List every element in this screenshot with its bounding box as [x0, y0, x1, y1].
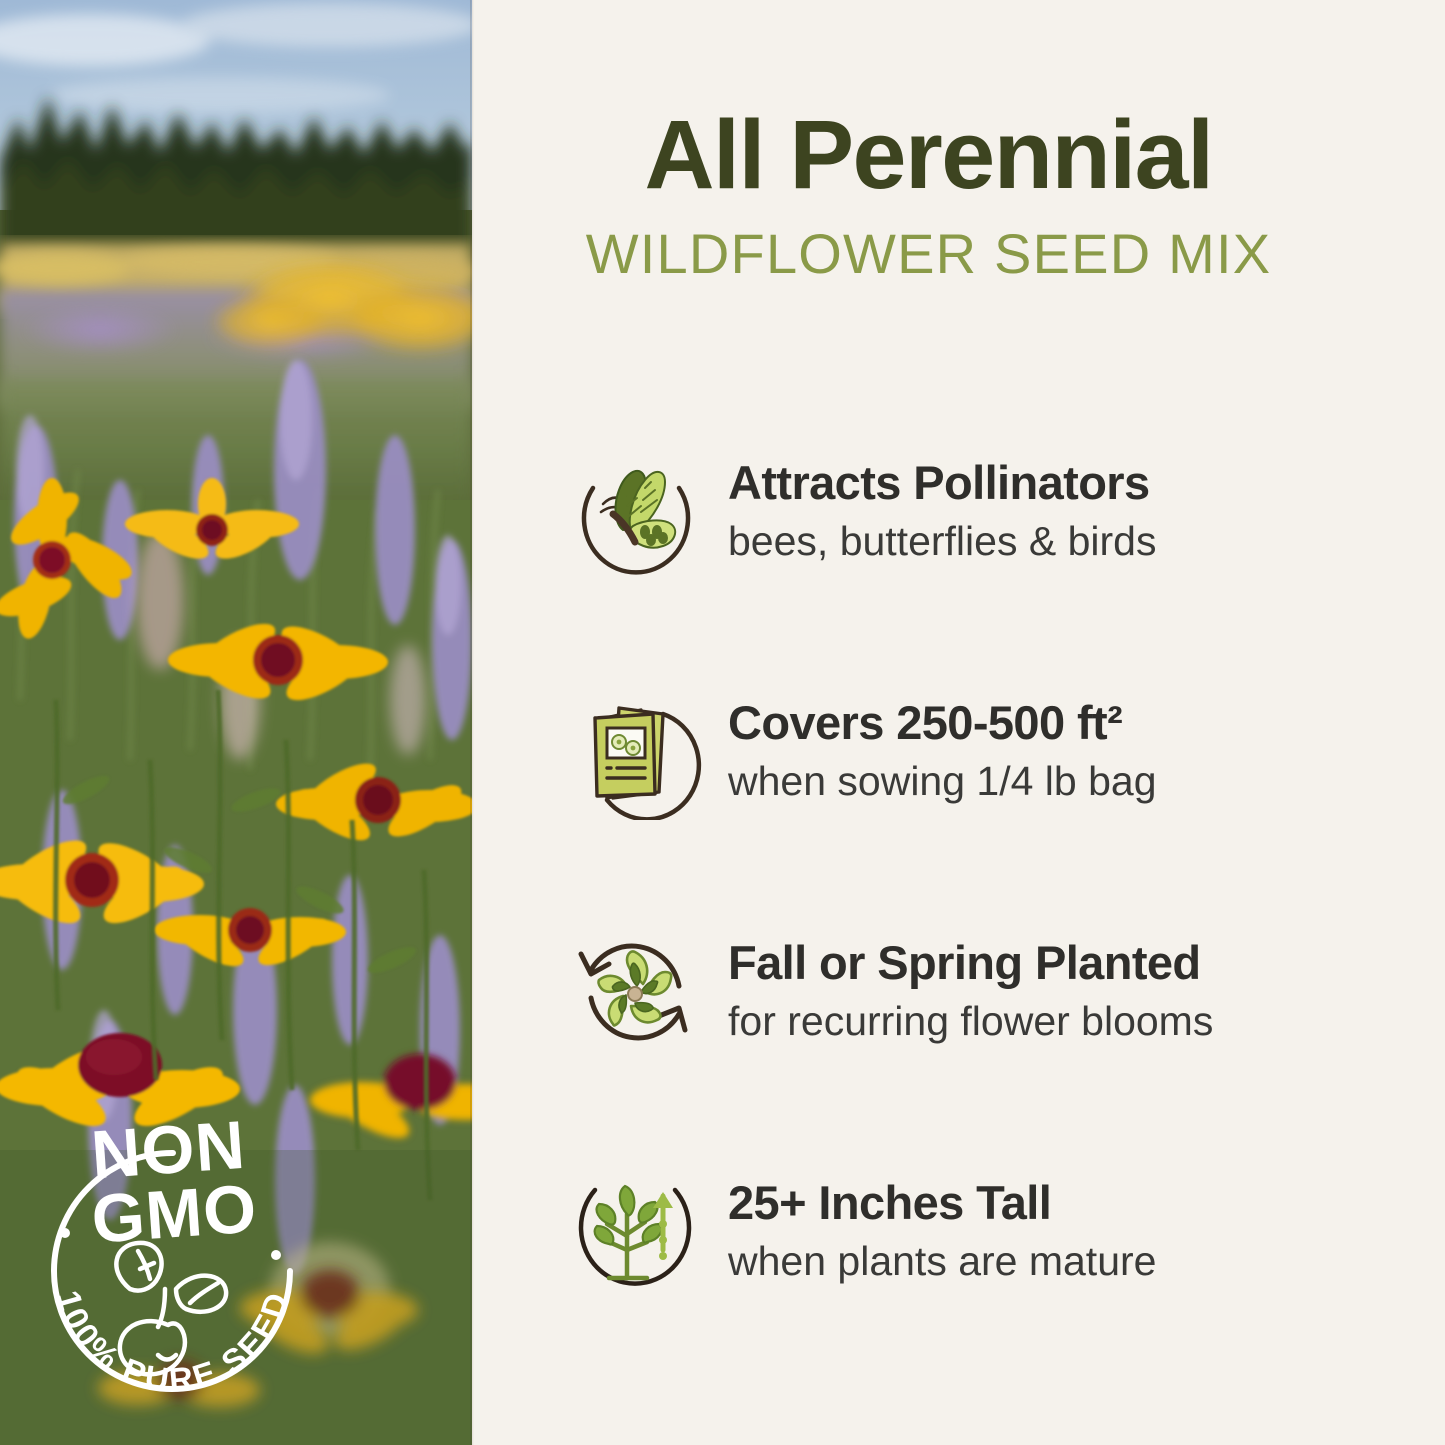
non-gmo-badge-graphic: NON GMO 100% PURE SEED — [18, 1093, 328, 1413]
feature-subtitle: bees, butterflies & birds — [728, 517, 1156, 565]
feature-text: Covers 250-500 ft² when sowing 1/4 lb ba… — [728, 698, 1177, 805]
planting-cycle-icon — [560, 924, 710, 1060]
feature-subtitle: for recurring flower blooms — [728, 997, 1213, 1045]
feature-title: Covers 250-500 ft² — [728, 698, 1157, 749]
badge-dot-left — [60, 1228, 70, 1238]
feature-title: Fall or Spring Planted — [728, 938, 1213, 989]
product-title: All Perennial — [472, 105, 1385, 206]
badge-line2: GMO — [89, 1170, 259, 1257]
plant-height-icon — [560, 1162, 710, 1302]
feature-title: 25+ Inches Tall — [728, 1178, 1156, 1229]
feature-row: Attracts Pollinators bees, butterflies &… — [472, 392, 1445, 632]
non-gmo-badge: NON GMO 100% PURE SEED — [18, 1093, 328, 1413]
seed-packets-icon — [560, 684, 710, 820]
feature-text: 25+ Inches Tall when plants are mature — [728, 1178, 1176, 1285]
title-block: All Perennial WILDFLOWER SEED MIX — [472, 105, 1445, 287]
feature-row: 25+ Inches Tall when plants are mature — [472, 1112, 1445, 1352]
feature-subtitle: when plants are mature — [728, 1237, 1156, 1285]
product-infographic: NON GMO 100% PURE SEED All Perennial — [0, 0, 1445, 1445]
feature-title: Attracts Pollinators — [728, 458, 1156, 509]
badge-arc-text: 100% PURE SEED — [50, 1286, 297, 1399]
feature-text: Fall or Spring Planted for recurring flo… — [728, 938, 1233, 1045]
feature-row: Covers 250-500 ft² when sowing 1/4 lb ba… — [472, 632, 1445, 872]
feature-subtitle: when sowing 1/4 lb bag — [728, 757, 1157, 805]
product-subtitle: WILDFLOWER SEED MIX — [472, 220, 1385, 287]
info-panel: All Perennial WILDFLOWER SEED MIX — [472, 0, 1445, 1445]
badge-dot-right — [271, 1250, 281, 1260]
feature-list: Attracts Pollinators bees, butterflies &… — [472, 392, 1445, 1352]
feature-text: Attracts Pollinators bees, butterflies &… — [728, 458, 1176, 565]
butterfly-icon — [560, 444, 710, 580]
feature-row: Fall or Spring Planted for recurring flo… — [472, 872, 1445, 1112]
